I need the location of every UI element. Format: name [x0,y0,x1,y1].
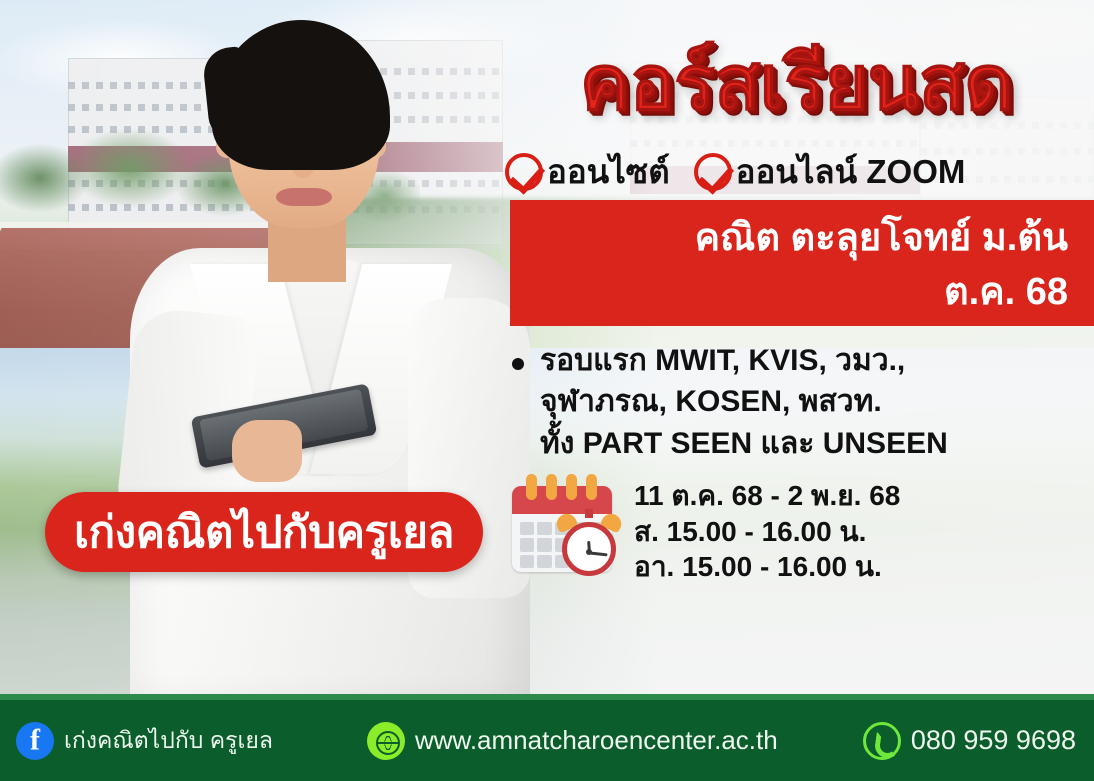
globe-icon[interactable] [367,722,405,760]
phone-icon[interactable] [863,722,901,760]
footer-website[interactable]: www.amnatcharoencenter.ac.th [367,722,778,760]
facebook-label: เก่งคณิตไปกับ ครูเยล [64,723,273,759]
website-label: www.amnatcharoencenter.ac.th [415,725,778,756]
mode-onsite: ออนไซต์ [505,145,670,198]
alarm-clock-icon [560,518,618,576]
course-name: คณิต ตะลุยโจทย์ ม.ต้น [530,212,1068,266]
footer-facebook[interactable]: เก่งคณิตไปกับ ครูเยล [16,722,273,760]
highlight-line-3: ทั้ง PART SEEN และ UNSEEN [540,423,1094,464]
instructor-photo [120,12,550,702]
page-title: คอร์สเรียนสด [498,48,1094,121]
schedule-block: 11 ต.ค. 68 - 2 พ.ย. 68 ส. 15.00 - 16.00 … [508,474,1094,585]
check-circle-icon [505,153,543,191]
schedule-saturday: ส. 15.00 - 16.00 น. [634,514,900,550]
calendar-clock-icon [508,474,620,576]
schedule-sunday: อา. 15.00 - 16.00 น. [634,549,900,585]
footer-phone[interactable]: 080 959 9698 [863,722,1076,760]
delivery-modes: ออนไซต์ ออนไลน์ ZOOM [505,145,1094,198]
bullet-dot-icon [512,358,524,370]
check-circle-icon [694,153,732,191]
course-month: ต.ค. 68 [530,266,1068,320]
mode-online-label: ออนไลน์ ZOOM [736,145,966,198]
contact-footer: เก่งคณิตไปกับ ครูเยล www.amnatcharoencen… [0,700,1094,781]
course-title-banner: คณิต ตะลุยโจทย์ ม.ต้น ต.ค. 68 [510,200,1094,326]
mode-onsite-label: ออนไซต์ [547,145,670,198]
schedule-dates: 11 ต.ค. 68 - 2 พ.ย. 68 [634,478,900,514]
poster-root: คอร์สเรียนสด ออนไซต์ ออนไลน์ ZOOM คณิต ต… [0,0,1094,781]
facebook-icon[interactable] [16,722,54,760]
slogan-pill: เก่งคณิตไปกับครูเยล [45,492,483,572]
slogan-label: เก่งคณิตไปกับครูเยล [74,497,454,567]
course-highlights: รอบแรก MWIT, KVIS, วมว., จุฬาภรณ, KOSEN,… [512,340,1094,464]
highlight-line-2: จุฬาภรณ, KOSEN, พสวท. [540,381,1094,422]
highlight-line-1: รอบแรก MWIT, KVIS, วมว., [540,340,1094,381]
phone-label: 080 959 9698 [911,725,1076,756]
mode-online: ออนไลน์ ZOOM [694,145,966,198]
